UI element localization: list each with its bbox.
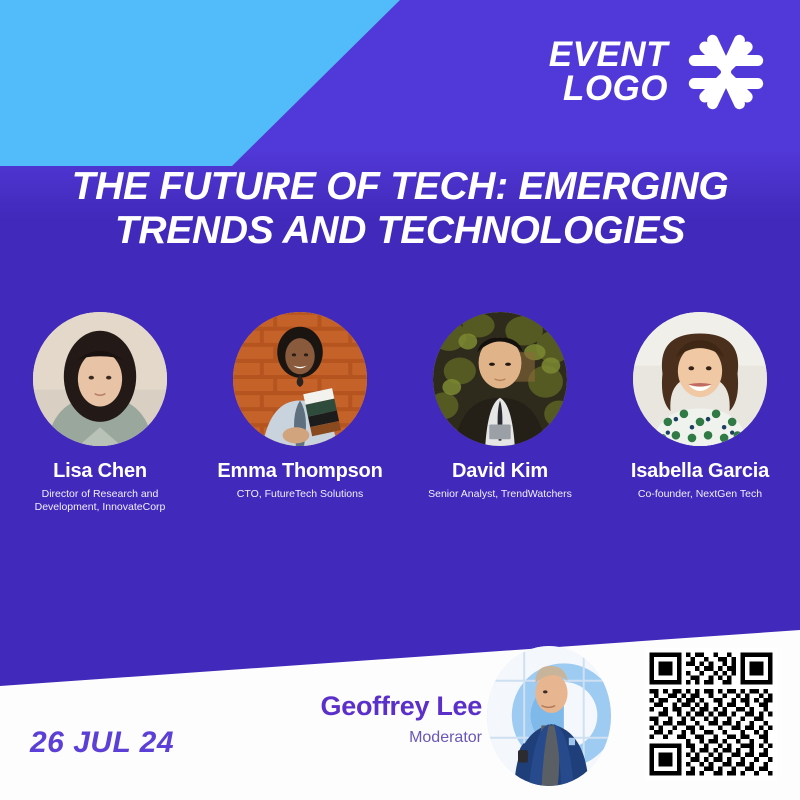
speaker-card: Isabella Garcia Co-founder, NextGen Tech [600,312,800,514]
event-logo-line1: EVENT [549,38,668,72]
speaker-photo-lisa-chen [33,312,167,446]
speaker-avatar [233,312,367,446]
event-poster: EVENT LOGO THE F [0,0,800,800]
moderator-avatar [487,646,611,786]
speaker-avatar [633,312,767,446]
moderator-role: Moderator [250,729,482,747]
speaker-role: Co-founder, NextGen Tech [638,488,762,501]
speaker-avatar [33,312,167,446]
speaker-photo-isabella-garcia [633,312,767,446]
speaker-name: Emma Thompson [217,460,382,482]
speaker-card: Emma Thompson CTO, FutureTech Solutions [200,312,400,514]
moderator-name: Geoffrey Lee [250,692,482,722]
snowflake-asterisk-icon [678,24,774,120]
speaker-name: Lisa Chen [53,460,147,482]
poster-title: THE FUTURE OF TECH: EMERGING TRENDS AND … [40,165,760,252]
event-date: 26 JUL 24 [30,726,174,760]
speaker-photo-emma-thompson [233,312,367,446]
speaker-photo-david-kim [433,312,567,446]
event-logo: EVENT LOGO [549,24,774,120]
speaker-role: CTO, FutureTech Solutions [237,488,363,501]
event-logo-text: EVENT LOGO [549,38,668,106]
moderator-photo [487,646,611,786]
speaker-card: David Kim Senior Analyst, TrendWatchers [400,312,600,514]
speaker-avatar [433,312,567,446]
poster-title-line1: THE FUTURE OF TECH: EMERGING [40,165,760,209]
speaker-name: Isabella Garcia [631,460,769,482]
poster-title-line2: TRENDS AND TECHNOLOGIES [40,209,760,253]
speaker-list: Lisa Chen Director of Research and Devel… [0,312,800,514]
speaker-name: David Kim [452,460,548,482]
qr-code[interactable] [645,648,777,780]
qr-code-image [645,648,777,780]
speaker-role: Director of Research and Development, In… [18,488,183,514]
speaker-role: Senior Analyst, TrendWatchers [428,488,572,501]
event-logo-line2: LOGO [549,72,668,106]
speaker-card: Lisa Chen Director of Research and Devel… [0,312,200,514]
moderator-info: Geoffrey Lee Moderator [250,692,482,747]
